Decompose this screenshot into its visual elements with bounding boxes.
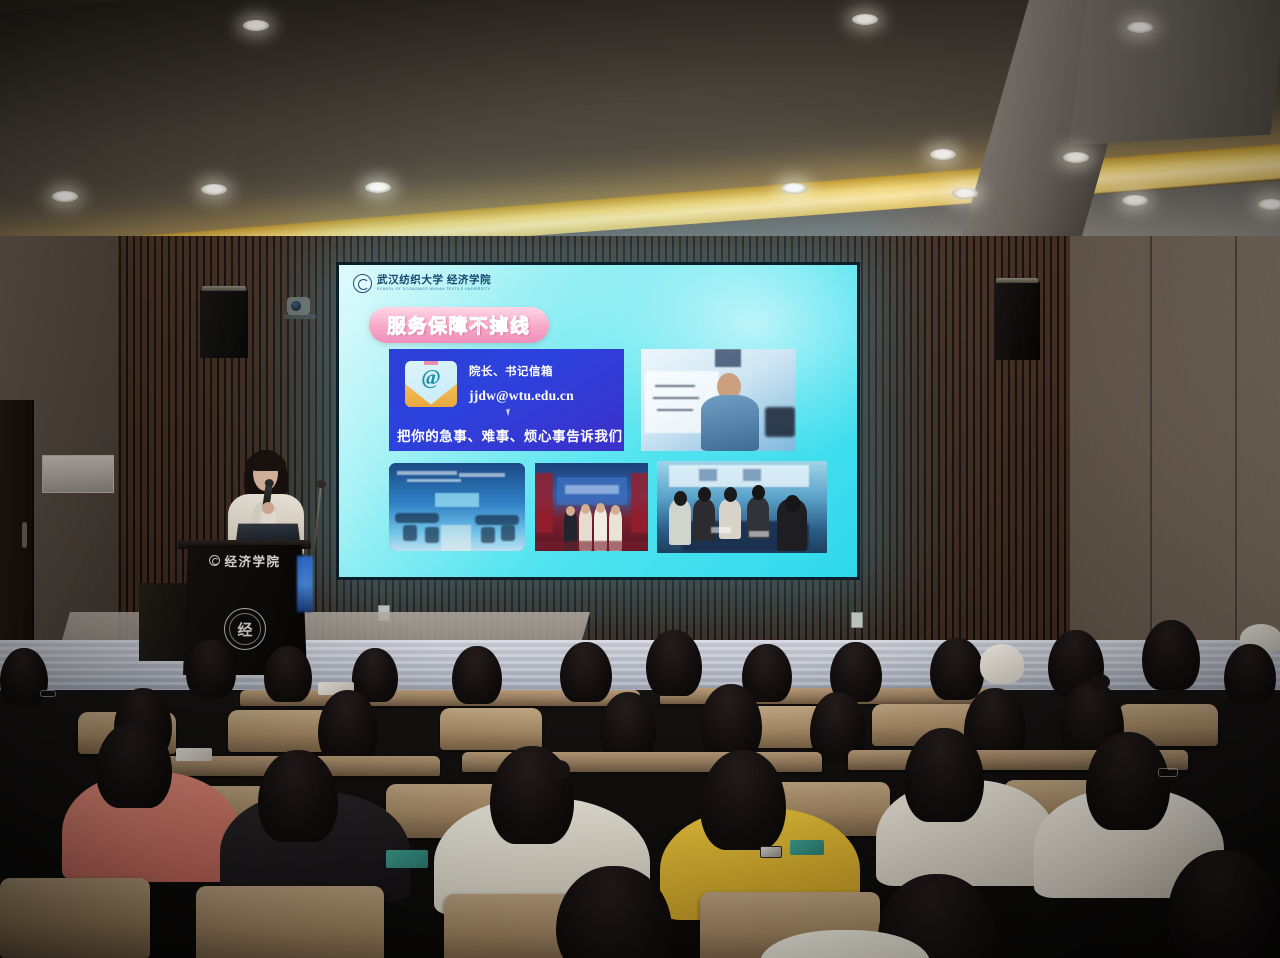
photo-person-head [698,487,711,502]
audience-head [318,690,378,764]
audience-head [452,646,502,704]
podium-label-text: 经济学院 [224,551,280,570]
photo-person-head [596,503,605,513]
classroom-chair [425,527,439,543]
slide-logo-chinese: 武汉纺织大学 经济学院 [377,276,491,287]
photo-seminar-meeting [657,461,827,553]
classroom-desk [395,513,439,523]
envelope-at-icon: @ [405,361,457,407]
ceiling-fascia-corner [1069,0,1280,145]
audience-head [700,684,762,760]
presenter-bangs [246,452,286,471]
mouse-cursor-icon [506,409,512,417]
at-symbol: @ [405,365,457,390]
presentation-slide: 武汉纺织大学 经济学院 SCHOOL OF ECONOMICS WUHAN TE… [339,265,857,577]
downlight-icon [243,20,269,31]
downlight-icon [781,183,807,194]
board-writing [653,397,699,399]
downlight-icon [1127,22,1153,33]
chair-back-row-d [0,878,150,958]
audience-head [1086,732,1170,830]
ceiling-light-strip [407,479,461,482]
university-crest-icon [209,555,220,566]
downlight-icon [1063,152,1089,163]
audience-head [646,630,702,696]
photo-person-head [752,485,765,500]
slide-title-badge: 服务保障不掉线 [369,307,549,343]
projection-screen[interactable]: 武汉纺织大学 经济学院 SCHOOL OF ECONOMICS WUHAN TE… [336,262,860,580]
audience-area [0,600,1280,958]
audience-head [96,722,172,808]
meeting-papers [749,531,769,537]
mailbox-label: 院长、书记信箱 [469,363,574,379]
ceiling-light-strip [397,471,457,475]
chair-back-row-d [196,886,384,958]
ceiling-fixture [715,349,741,367]
slide-logo: 武汉纺织大学 经济学院 SCHOOL OF ECONOMICS WUHAN TE… [353,274,491,293]
green-booklet [790,840,824,855]
photo-tv-studio-group [535,463,648,551]
presenter-hand [262,502,274,514]
wall-frame [699,469,717,481]
photo-person-head [566,506,575,516]
audience-head [258,750,338,842]
photo-person [693,499,715,541]
studio-floor [535,541,648,551]
mailbox-address: jjdw@wtu.edu.cn [469,388,574,404]
wall-frame [743,469,761,481]
photo-monitor [765,407,795,437]
smartphone-on-desk [760,846,782,858]
photo-teacher-whiteboard [641,349,796,451]
photo-person-head [785,495,800,512]
classroom-chair [481,527,495,543]
ceiling [0,0,1280,258]
audience-head [264,646,312,702]
meeting-room-window [669,465,809,487]
audience-hair-bun [1090,674,1110,690]
audience-head [186,640,236,698]
ceiling-light-strip [459,473,505,477]
audience-head [1168,850,1280,958]
wall-speaker-left [200,290,248,358]
studio-curtain [535,473,553,533]
green-booklet [386,850,428,868]
photo-person-head [611,505,620,515]
photo-person-head [724,487,737,502]
chair-back-row-b [440,708,542,750]
podium-nameplate: 经济学院 [183,551,307,570]
photo-person-head [581,504,590,514]
downlight-icon [930,149,956,160]
classroom-chair [403,525,417,541]
meeting-papers [711,527,731,533]
downlight-icon [201,184,227,195]
audience-glasses-icon [1158,768,1178,777]
door-handle[interactable] [22,522,27,548]
downlight-icon [852,14,878,25]
audience-head [560,642,612,702]
backdrop-text [565,485,619,494]
audience-head [1142,620,1200,690]
classroom-desk [475,515,519,525]
wall-display [435,493,479,507]
audience-head [930,638,984,700]
audience-head [0,648,48,706]
mailbox-tagline: 把你的急事、难事、烦心事告诉我们 [397,425,623,445]
slide-logo-english: SCHOOL OF ECONOMICS WUHAN TEXTILE UNIVER… [377,288,491,291]
audience-beanie-cap [980,644,1024,684]
audience-head [700,750,786,850]
photo-smart-classroom [389,463,525,551]
lecture-hall-scene: 武汉纺织大学 经济学院 SCHOOL OF ECONOMICS WUHAN TE… [0,0,1280,958]
downlight-icon [1258,199,1280,210]
ptz-camera-icon [287,297,310,315]
audience-head [904,728,984,822]
downlight-icon [365,182,391,193]
classroom-chair [501,525,515,541]
slide-title: 服务保障不掉线 [387,316,531,337]
photo-person [719,499,741,539]
downlight-icon [52,191,78,202]
board-writing [655,385,695,387]
white-handout [176,748,212,761]
audience-head [1224,644,1276,704]
university-crest-icon [353,274,372,293]
wall-speaker-right [994,282,1040,360]
mailbox-panel: @ 院长、书记信箱 jjdw@wtu.edu.cn 把你的急事、难事、烦心事告诉… [389,349,624,451]
board-writing [657,409,693,411]
wall-vent-panel [42,455,114,493]
floor-aisle [441,525,471,551]
photo-person-head [674,491,687,506]
downlight-icon [1122,195,1148,206]
photo-person-body [701,395,759,451]
audience-hair-bun [548,760,570,780]
studio-curtain [631,473,648,533]
audience-glasses-icon [40,690,56,697]
downlight-icon [952,188,978,199]
